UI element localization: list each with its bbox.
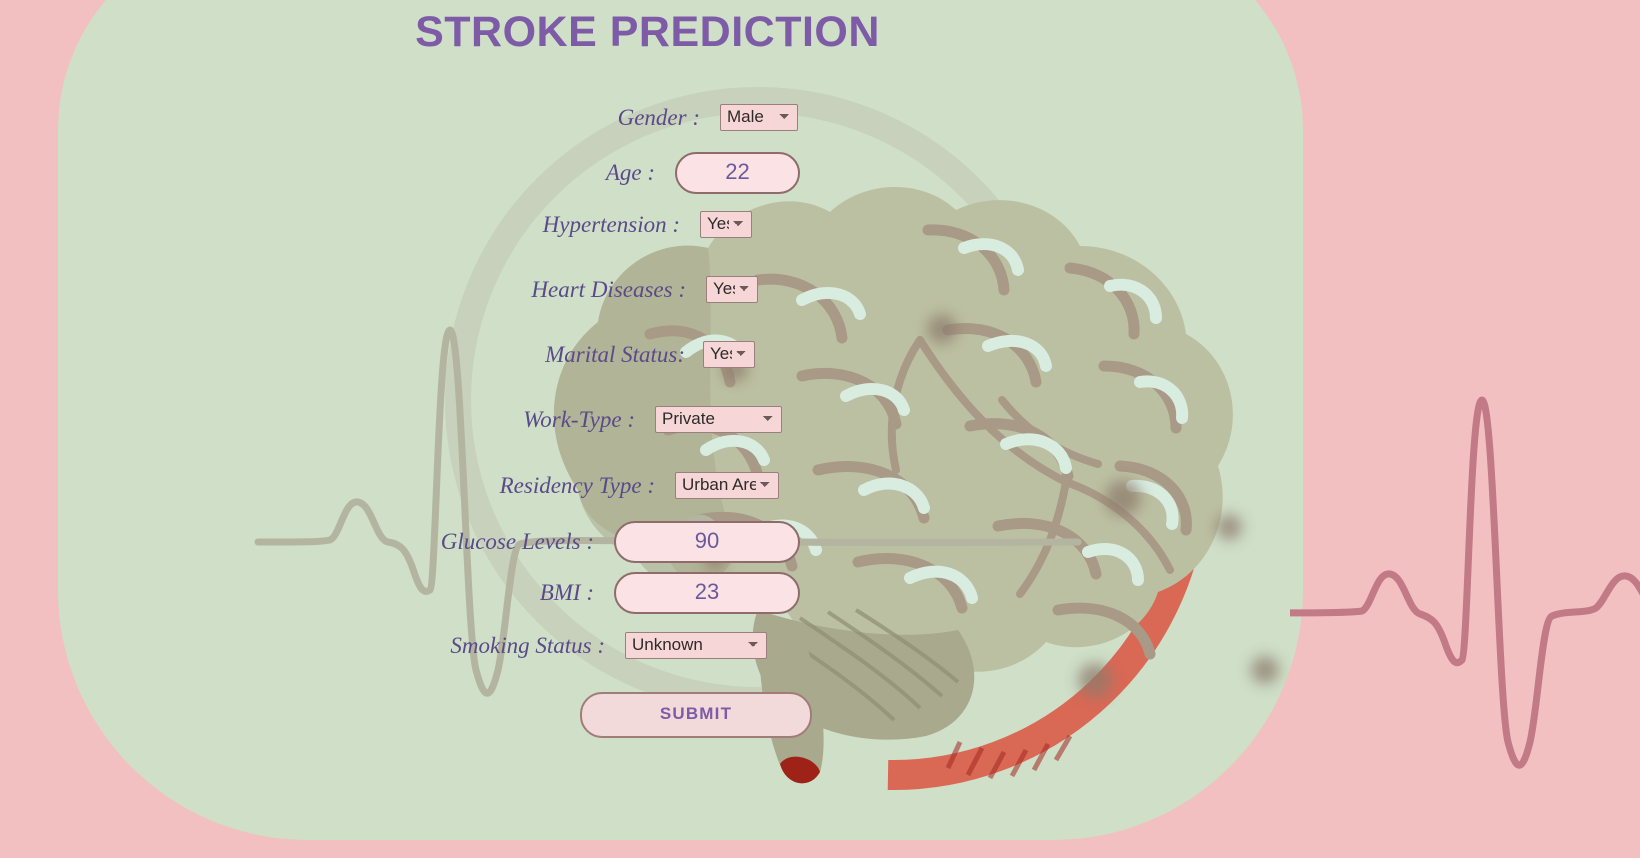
gender-select[interactable]: Male <box>720 104 798 131</box>
glucose-levels-input[interactable] <box>614 521 800 563</box>
label-hypertension: Hypertension : <box>380 212 680 238</box>
control-glucose-levels <box>614 521 800 563</box>
bmi-input[interactable] <box>614 572 800 614</box>
app-root: STROKE PREDICTION Gender : Male Age : Hy… <box>0 0 1640 858</box>
field-row-work-type: Work-Type : Private <box>380 406 800 433</box>
label-age: Age : <box>380 160 655 186</box>
field-row-age: Age : <box>380 152 800 194</box>
field-row-heart-diseases: Heart Diseases : Yes <box>380 276 800 303</box>
heart-diseases-select[interactable]: Yes <box>706 276 758 303</box>
field-row-hypertension: Hypertension : Yes <box>380 211 800 238</box>
control-hypertension: Yes <box>700 211 752 238</box>
label-marital-status: Marital Status: <box>380 342 685 368</box>
control-smoking-status: Unknown <box>625 632 767 659</box>
work-type-select[interactable]: Private <box>655 406 782 433</box>
control-heart-diseases: Yes <box>706 276 758 303</box>
field-row-glucose-levels: Glucose Levels : <box>380 521 800 563</box>
label-heart-diseases: Heart Diseases : <box>380 277 686 303</box>
control-marital-status: Yes <box>703 341 755 368</box>
marital-status-select[interactable]: Yes <box>703 341 755 368</box>
field-row-gender: Gender : Male <box>380 104 800 131</box>
smoking-status-select[interactable]: Unknown <box>625 632 767 659</box>
label-residency-type: Residency Type : <box>380 473 655 499</box>
residency-type-select[interactable]: Urban Area <box>675 472 779 499</box>
field-row-smoking-status: Smoking Status : Unknown <box>380 632 800 659</box>
label-bmi: BMI : <box>380 580 594 606</box>
age-input[interactable] <box>675 152 800 194</box>
label-work-type: Work-Type : <box>380 407 635 433</box>
page-title: STROKE PREDICTION <box>0 8 1295 57</box>
label-gender: Gender : <box>380 105 700 131</box>
label-glucose-levels: Glucose Levels : <box>380 529 594 555</box>
field-row-residency-type: Residency Type : Urban Area <box>380 472 800 499</box>
control-age <box>675 152 800 194</box>
submit-row: SUBMIT <box>580 692 812 738</box>
field-row-bmi: BMI : <box>380 572 800 614</box>
submit-button[interactable]: SUBMIT <box>580 692 812 738</box>
hypertension-select[interactable]: Yes <box>700 211 752 238</box>
label-smoking-status: Smoking Status : <box>380 633 605 659</box>
control-work-type: Private <box>655 406 782 433</box>
control-gender: Male <box>720 104 798 131</box>
stroke-prediction-form: STROKE PREDICTION Gender : Male Age : Hy… <box>0 0 1640 858</box>
control-residency-type: Urban Area <box>675 472 779 499</box>
control-bmi <box>614 572 800 614</box>
field-row-marital-status: Marital Status: Yes <box>380 341 800 368</box>
